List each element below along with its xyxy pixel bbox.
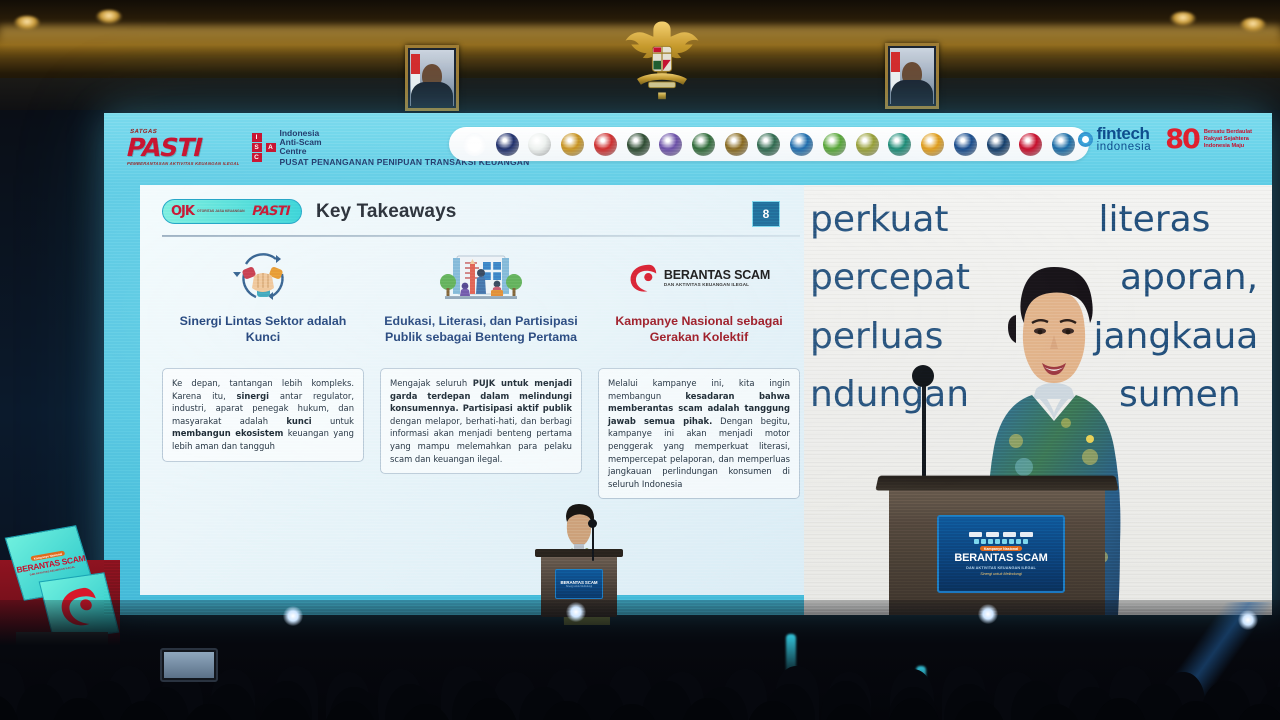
- eighty-line-3: Indonesia Maju: [1204, 143, 1252, 150]
- berantas-scam-title: BERANTAS SCAM: [664, 269, 770, 282]
- kemendag-logo: [725, 133, 748, 156]
- stage-light: [566, 602, 586, 622]
- takeaway-column: BERANTAS SCAM DAN AKTIVITAS KEUANGAN ILE…: [598, 247, 800, 499]
- mahkamah-agung-logo: [561, 133, 584, 156]
- magnified-word: percepat: [810, 249, 970, 307]
- takeaway-body: Melalui kampanye ini, kita ingin membang…: [598, 368, 800, 499]
- eighty-line-2: Rakyat Sejahtera: [1204, 136, 1252, 143]
- magnified-word: perkuat: [810, 191, 949, 249]
- takeaway-column: Sinergi Lintas Sektor adalah Kunci Ke de…: [162, 247, 364, 499]
- magnified-word: ndungan: [810, 366, 969, 424]
- fintech-country: indonesia: [1097, 142, 1152, 154]
- fintech-gear-icon: [1078, 132, 1093, 147]
- iasc-letter-blocks-2: A: [266, 143, 276, 152]
- audience-phone-recording: [160, 648, 218, 682]
- stage-light: [283, 606, 303, 626]
- ojk-subtext: OTORITAS JASA KEUANGAN: [197, 209, 245, 213]
- takeaway-heading: Edukasi, Literasi, dan Partisipasi Publi…: [380, 314, 582, 362]
- iasc-block-a: A: [266, 143, 276, 152]
- pasti-logo: SATGAS PASTI PEMBERANTASAN AKTIVITAS KEU…: [127, 129, 240, 166]
- podium-tagline: Sinergi untuk Melindungi: [980, 572, 1022, 576]
- stage-light: [1238, 610, 1258, 630]
- podium-decor-dots: [974, 539, 1028, 544]
- hut-80-logo: 80 Bersatu Berdaulat Rakyat Sejahtera In…: [1165, 126, 1252, 153]
- presentation-screen: SATGAS PASTI PEMBERANTASAN AKTIVITAS KEU…: [104, 113, 1272, 615]
- iasc-letter-blocks: I S C: [252, 133, 262, 162]
- stage-light: [978, 604, 998, 624]
- kemendikbud-logo: [790, 133, 813, 156]
- bank-indonesia-logo: [496, 133, 519, 156]
- microphone-head: [912, 365, 934, 387]
- agency-logo-strip: [449, 127, 1089, 161]
- microphone-stem: [922, 381, 926, 477]
- education-literacy-icon: [439, 247, 523, 309]
- ceiling-light: [1170, 12, 1196, 26]
- berantas-scam-logo: BERANTAS SCAM DAN AKTIVITAS KEUANGAN ILE…: [628, 247, 770, 309]
- eighty-line-1: Bersatu Berdaulat: [1204, 129, 1252, 136]
- ojk-pasti-chip: OJK OTORITAS JASA KEUANGAN PASTI: [162, 199, 302, 224]
- conference-photo: SATGAS PASTI PEMBERANTASAN AKTIVITAS KEU…: [0, 0, 1280, 720]
- kejaksaan-agung-logo: [528, 133, 551, 156]
- iasc-block-s: S: [252, 143, 262, 152]
- kementan-logo: [823, 133, 846, 156]
- title-divider: [162, 235, 800, 237]
- garuda-pancasila-emblem: [614, 8, 710, 104]
- vice-president-portrait: [885, 43, 939, 109]
- ceiling-light: [1240, 18, 1266, 32]
- takeaway-body: Mengajak seluruh PUJK untuk menjadi gard…: [380, 368, 582, 474]
- kemenkumham-logo: [987, 133, 1010, 156]
- magnified-word: perluas: [810, 308, 943, 366]
- podium-on-stage-subtitle: Sinergi untuk Melindungi: [566, 585, 592, 588]
- president-portrait: [405, 45, 459, 111]
- podium-sponsor-logos: [969, 532, 1033, 537]
- takeaway-heading: Kampanye Nasional sebagai Gerakan Kolekt…: [598, 314, 800, 362]
- stage-microphone-stem: [592, 525, 594, 561]
- takeaway-column: Edukasi, Literasi, dan Partisipasi Publi…: [380, 247, 582, 499]
- kemenkop-logo: [757, 133, 780, 156]
- partner-branding: fintech indonesia 80 Bersatu Berdaulat R…: [1078, 125, 1252, 154]
- podium: Kampanye Nasional BERANTAS SCAM DAN AKTI…: [889, 485, 1105, 615]
- fintech-wordmark: fintech: [1097, 125, 1152, 142]
- ceiling-light: [96, 10, 122, 24]
- slide-title-row: OJK OTORITAS JASA KEUANGAN PASTI Key Tak…: [162, 199, 456, 224]
- podium-on-stage-banner: BERANTAS SCAM Sinergi untuk Melindungi: [555, 569, 603, 599]
- magnified-text-panel: perkuatliteraspercepataporan,daperluasja…: [804, 185, 1272, 615]
- pasti-tagline: PEMBERANTASAN AKTIVITAS KEUANGAN ILEGAL: [127, 162, 240, 166]
- eighty-numeral: 80: [1165, 126, 1199, 153]
- chip-pasti-wordmark: PASTI: [250, 204, 291, 219]
- berantas-scam-subtitle: DAN AKTIVITAS KEUANGAN ILEGAL: [664, 282, 770, 287]
- ojk-logo: [463, 133, 486, 156]
- kominfo-lama-logo: [659, 133, 682, 156]
- podium-subtitle: DAN AKTIVITAS KEUANGAN ILEGAL: [966, 566, 1036, 570]
- komdigi-logo: [888, 133, 911, 156]
- kemenkop-ukm-logo: [921, 133, 944, 156]
- ceiling-light: [14, 16, 40, 30]
- kemenag-logo: [692, 133, 715, 156]
- polri-logo: [594, 133, 617, 156]
- pasti-wordmark: PASTI: [124, 135, 242, 160]
- right-wall: [1272, 110, 1280, 615]
- takeaway-columns: Sinergi Lintas Sektor adalah Kunci Ke de…: [162, 247, 802, 499]
- podium-banner: Kampanye Nasional BERANTAS SCAM DAN AKTI…: [937, 515, 1065, 593]
- takeaway-heading: Sinergi Lintas Sektor adalah Kunci: [162, 314, 364, 362]
- podium-pill: Kampanye Nasional: [980, 546, 1022, 551]
- scam-swoosh-icon: [628, 262, 658, 294]
- ojk-wordmark: OJK: [171, 204, 194, 219]
- kementerian-1-logo: [627, 133, 650, 156]
- ppatk-logo: [954, 133, 977, 156]
- iasc-block-i: I: [252, 133, 262, 142]
- stage-microphone-head: [588, 519, 597, 528]
- page-title: Key Takeaways: [316, 201, 456, 223]
- slide-number-badge: 8: [752, 201, 780, 227]
- setneg-logo: [1052, 133, 1075, 156]
- fintech-indonesia-logo: fintech indonesia: [1078, 125, 1152, 154]
- iasc-block-c: C: [252, 153, 262, 162]
- takeaway-body: Ke depan, tantangan lebih kompleks. Kare…: [162, 368, 364, 462]
- slide-content-area: OJK OTORITAS JASA KEUANGAN PASTI Key Tak…: [140, 185, 822, 595]
- slide-header: SATGAS PASTI PEMBERANTASAN AKTIVITAS KEU…: [104, 113, 1272, 175]
- bssn-logo: [856, 133, 879, 156]
- hands-synergy-icon: [232, 247, 294, 309]
- podium-title: BERANTAS SCAM: [954, 553, 1047, 564]
- ojk-logo: OJK OTORITAS JASA KEUANGAN: [171, 204, 245, 219]
- bin-logo: [1019, 133, 1042, 156]
- magnified-word: aporan,: [1120, 249, 1258, 307]
